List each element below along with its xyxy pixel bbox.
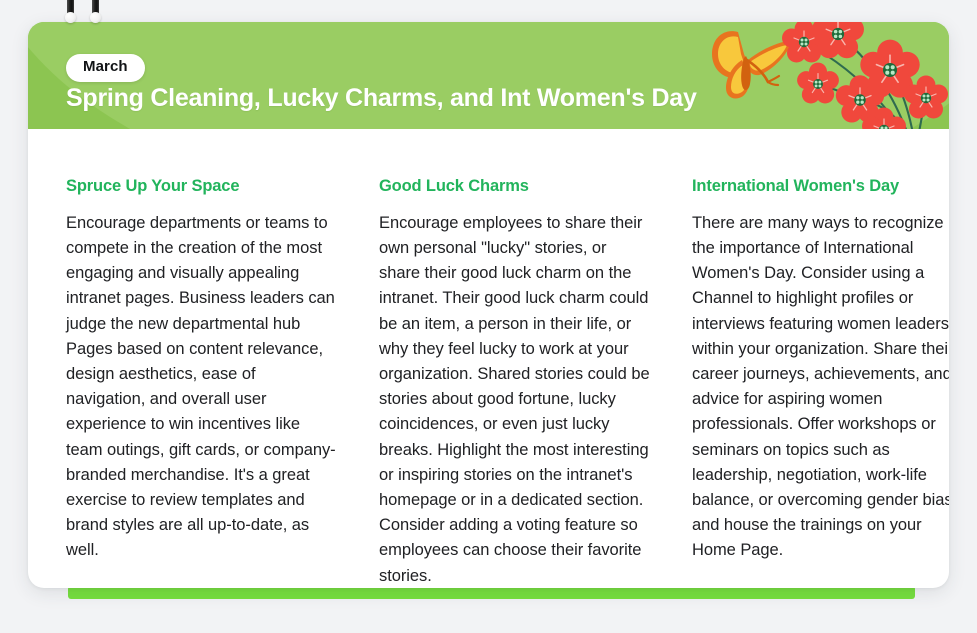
section-title-international-womens-day: International Women's Day: [692, 177, 949, 197]
binder-rings: [40, 0, 110, 34]
section-column-3: International Women's Day There are many…: [692, 177, 949, 588]
section-body-spruce-up-your-space: Encourage departments or teams to compet…: [66, 211, 338, 564]
month-badge: March: [66, 54, 145, 82]
section-title-spruce-up-your-space: Spruce Up Your Space: [66, 177, 338, 197]
section-body-good-luck-charms: Encourage employees to share their own p…: [379, 211, 651, 588]
newsletter-card: March Spring Cleaning, Lucky Charms, and…: [28, 22, 949, 588]
page-title: Spring Cleaning, Lucky Charms, and Int W…: [66, 84, 697, 114]
newsletter-page: March Spring Cleaning, Lucky Charms, and…: [0, 0, 977, 633]
section-title-good-luck-charms: Good Luck Charms: [379, 177, 651, 197]
sections-container: Spruce Up Your Space Encourage departmen…: [28, 129, 949, 588]
section-column-1: Spruce Up Your Space Encourage departmen…: [66, 177, 338, 588]
binder-ring-cap: [65, 12, 76, 23]
binder-ring-1: [65, 0, 76, 30]
binder-ring-2: [90, 0, 101, 30]
binder-ring-cap: [90, 12, 101, 23]
section-body-international-womens-day: There are many ways to recognize the imp…: [692, 211, 949, 564]
card-header: March Spring Cleaning, Lucky Charms, and…: [28, 22, 949, 129]
section-column-2: Good Luck Charms Encourage employees to …: [379, 177, 651, 588]
flower-bouquet-icon: [776, 22, 949, 129]
